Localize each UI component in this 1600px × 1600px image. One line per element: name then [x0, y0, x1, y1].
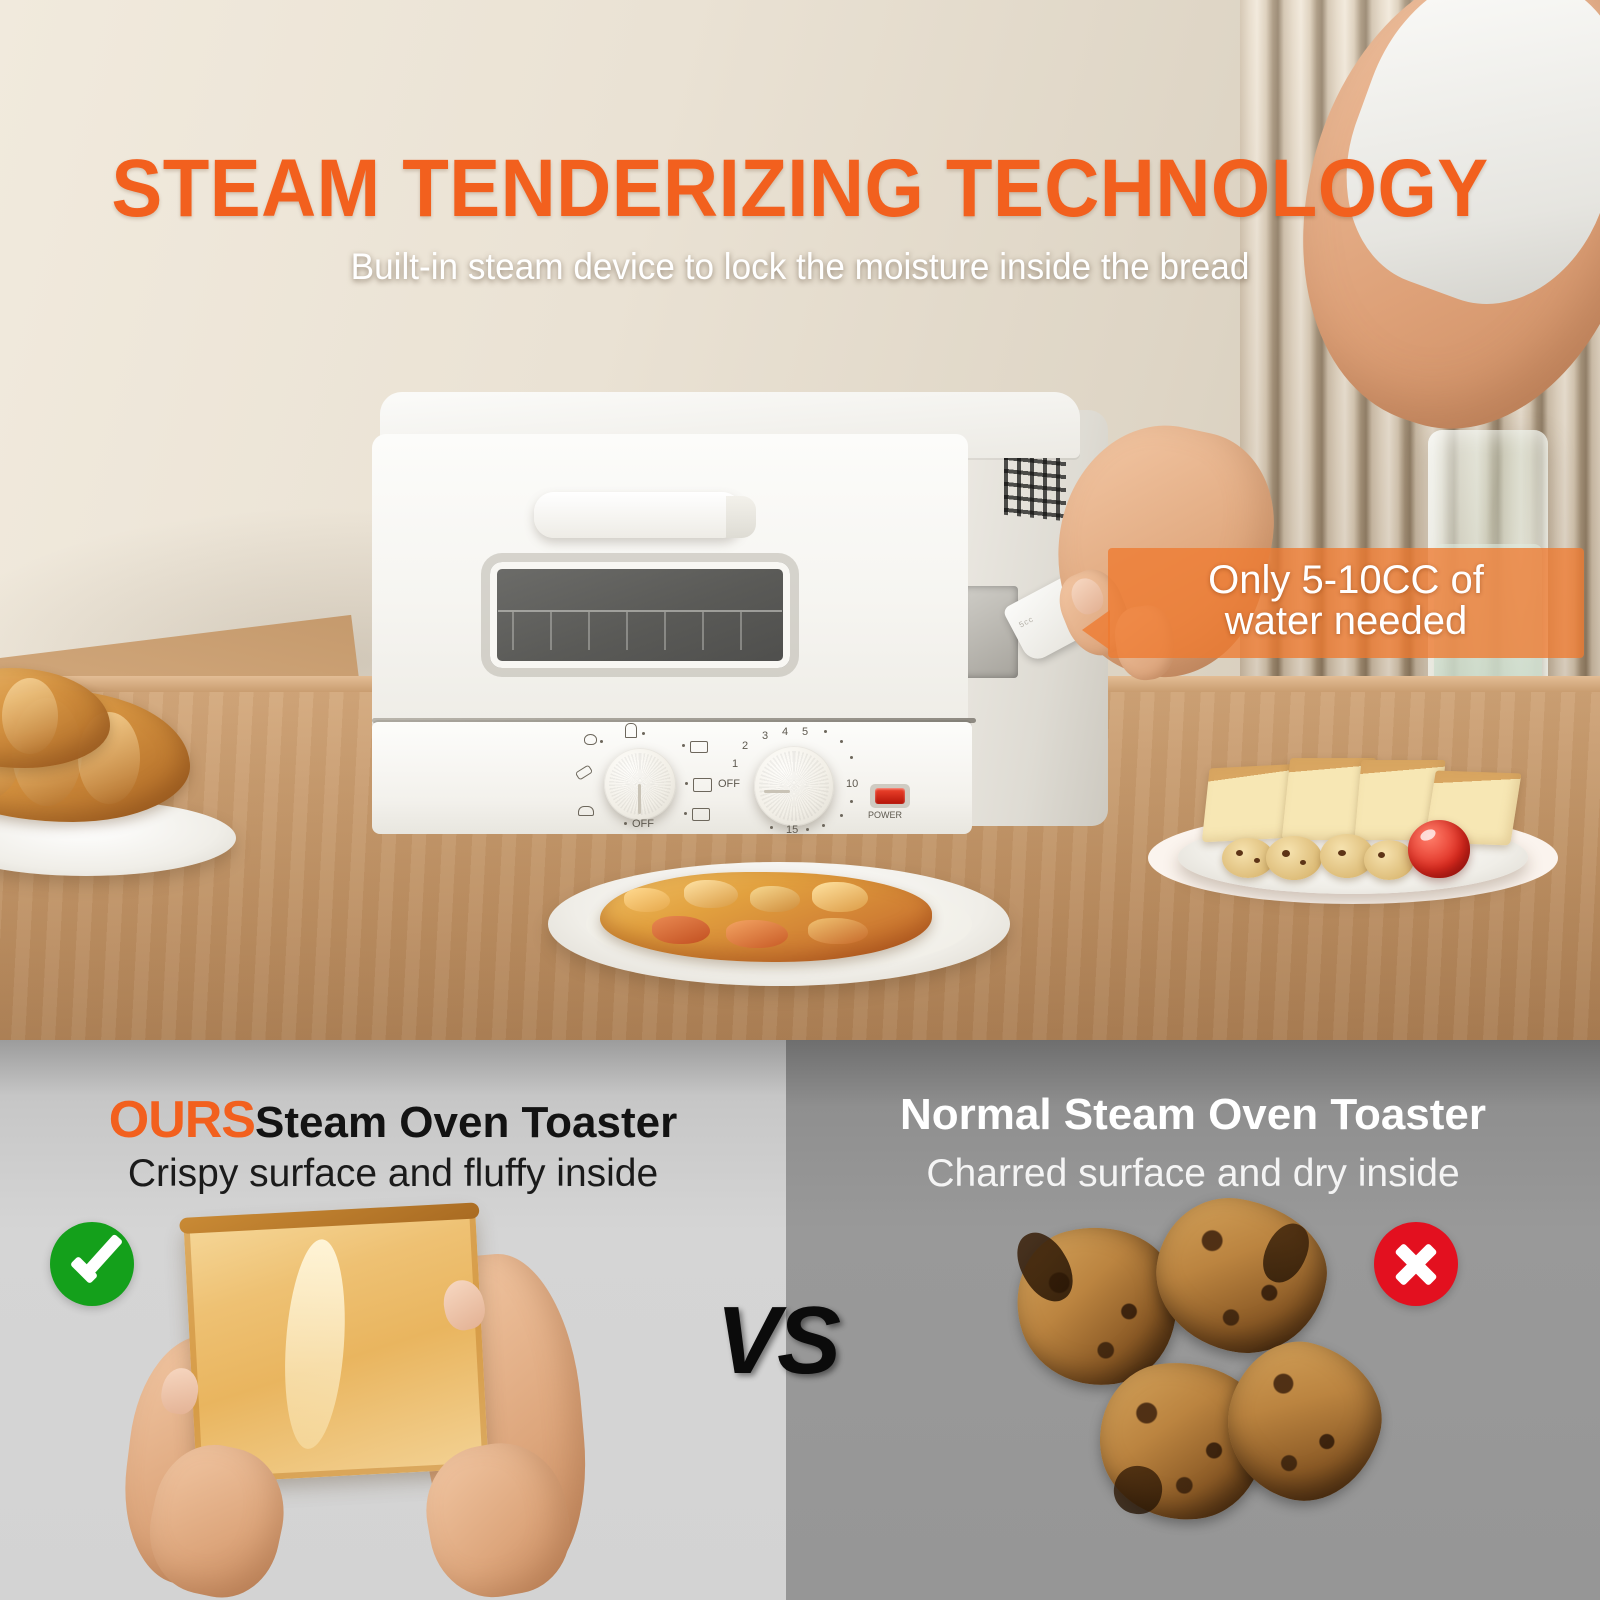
tomato	[1408, 820, 1470, 878]
oven-door-window	[490, 562, 790, 668]
timer-off-label: OFF	[718, 778, 740, 790]
charred-bread-group	[960, 1200, 1380, 1570]
timer-tick-10: 10	[846, 778, 858, 790]
check-badge-icon	[50, 1222, 134, 1306]
callout-tail	[1082, 610, 1110, 650]
ours-title: OURSSteam Oven Toaster	[0, 1090, 786, 1150]
bake-tray-icon	[690, 741, 708, 753]
timer-tick-15: 15	[786, 824, 798, 836]
brand-word: OURS	[109, 1091, 255, 1149]
product-marketing-poster: OFF OFF 1 2 3 4 5 10 15	[0, 0, 1600, 1600]
mode-knob-off-label: OFF	[632, 818, 654, 830]
golden-toast	[183, 1207, 488, 1484]
callout-line-2: water needed	[1122, 601, 1570, 642]
timer-tick-1: 1	[732, 758, 738, 770]
ours-subtitle: Crispy surface and fluffy inside	[0, 1152, 786, 1196]
broil-icon	[578, 806, 594, 816]
cross-badge-icon	[1374, 1222, 1458, 1306]
water-inlet	[962, 586, 1018, 678]
timer-tick-5: 5	[802, 726, 808, 738]
oven-control-panel: OFF OFF 1 2 3 4 5 10 15	[372, 722, 972, 834]
callout-line-1: Only 5-10CC of	[1122, 560, 1570, 601]
timer-knob[interactable]	[754, 746, 834, 826]
power-label: POWER	[868, 810, 902, 820]
oven-front-body	[372, 434, 968, 734]
power-led	[875, 788, 905, 804]
page-title: STEAM TENDERIZING TECHNOLOGY	[56, 148, 1544, 230]
ours-title-text: Steam Oven Toaster	[255, 1098, 677, 1147]
charred-bread-piece	[1145, 1188, 1337, 1365]
mode-knob[interactable]	[604, 748, 676, 820]
oven-door-handle[interactable]	[534, 492, 742, 538]
toast-slice-icon	[625, 723, 637, 738]
oven-tray-icon	[693, 778, 712, 792]
timer-tick-3: 3	[762, 730, 768, 742]
timer-tick-2: 2	[742, 740, 748, 752]
toast-fold	[279, 1237, 352, 1451]
water-amount-callout: Only 5-10CC of water needed	[1108, 548, 1584, 658]
headline-block: STEAM TENDERIZING TECHNOLOGY Built-in st…	[0, 148, 1600, 288]
cookie	[1266, 836, 1322, 880]
grill-rack-icon	[575, 764, 593, 780]
normal-subtitle: Charred surface and dry inside	[786, 1152, 1600, 1196]
hands-holding-toast	[128, 1196, 598, 1600]
page-subtitle: Built-in steam device to lock the moistu…	[40, 246, 1560, 288]
steam-oven-toaster: OFF OFF 1 2 3 4 5 10 15	[372, 392, 1108, 844]
oven-tray-icon	[692, 808, 710, 821]
pizza	[600, 872, 932, 962]
hero-scene: OFF OFF 1 2 3 4 5 10 15	[0, 0, 1600, 1040]
normal-title: Normal Steam Oven Toaster	[786, 1090, 1600, 1140]
cup-marking: 5cc	[1017, 614, 1035, 629]
steam-icon	[584, 734, 597, 745]
cookie	[1364, 840, 1414, 880]
timer-tick-4: 4	[782, 726, 788, 738]
vs-label: VS	[716, 1286, 838, 1396]
